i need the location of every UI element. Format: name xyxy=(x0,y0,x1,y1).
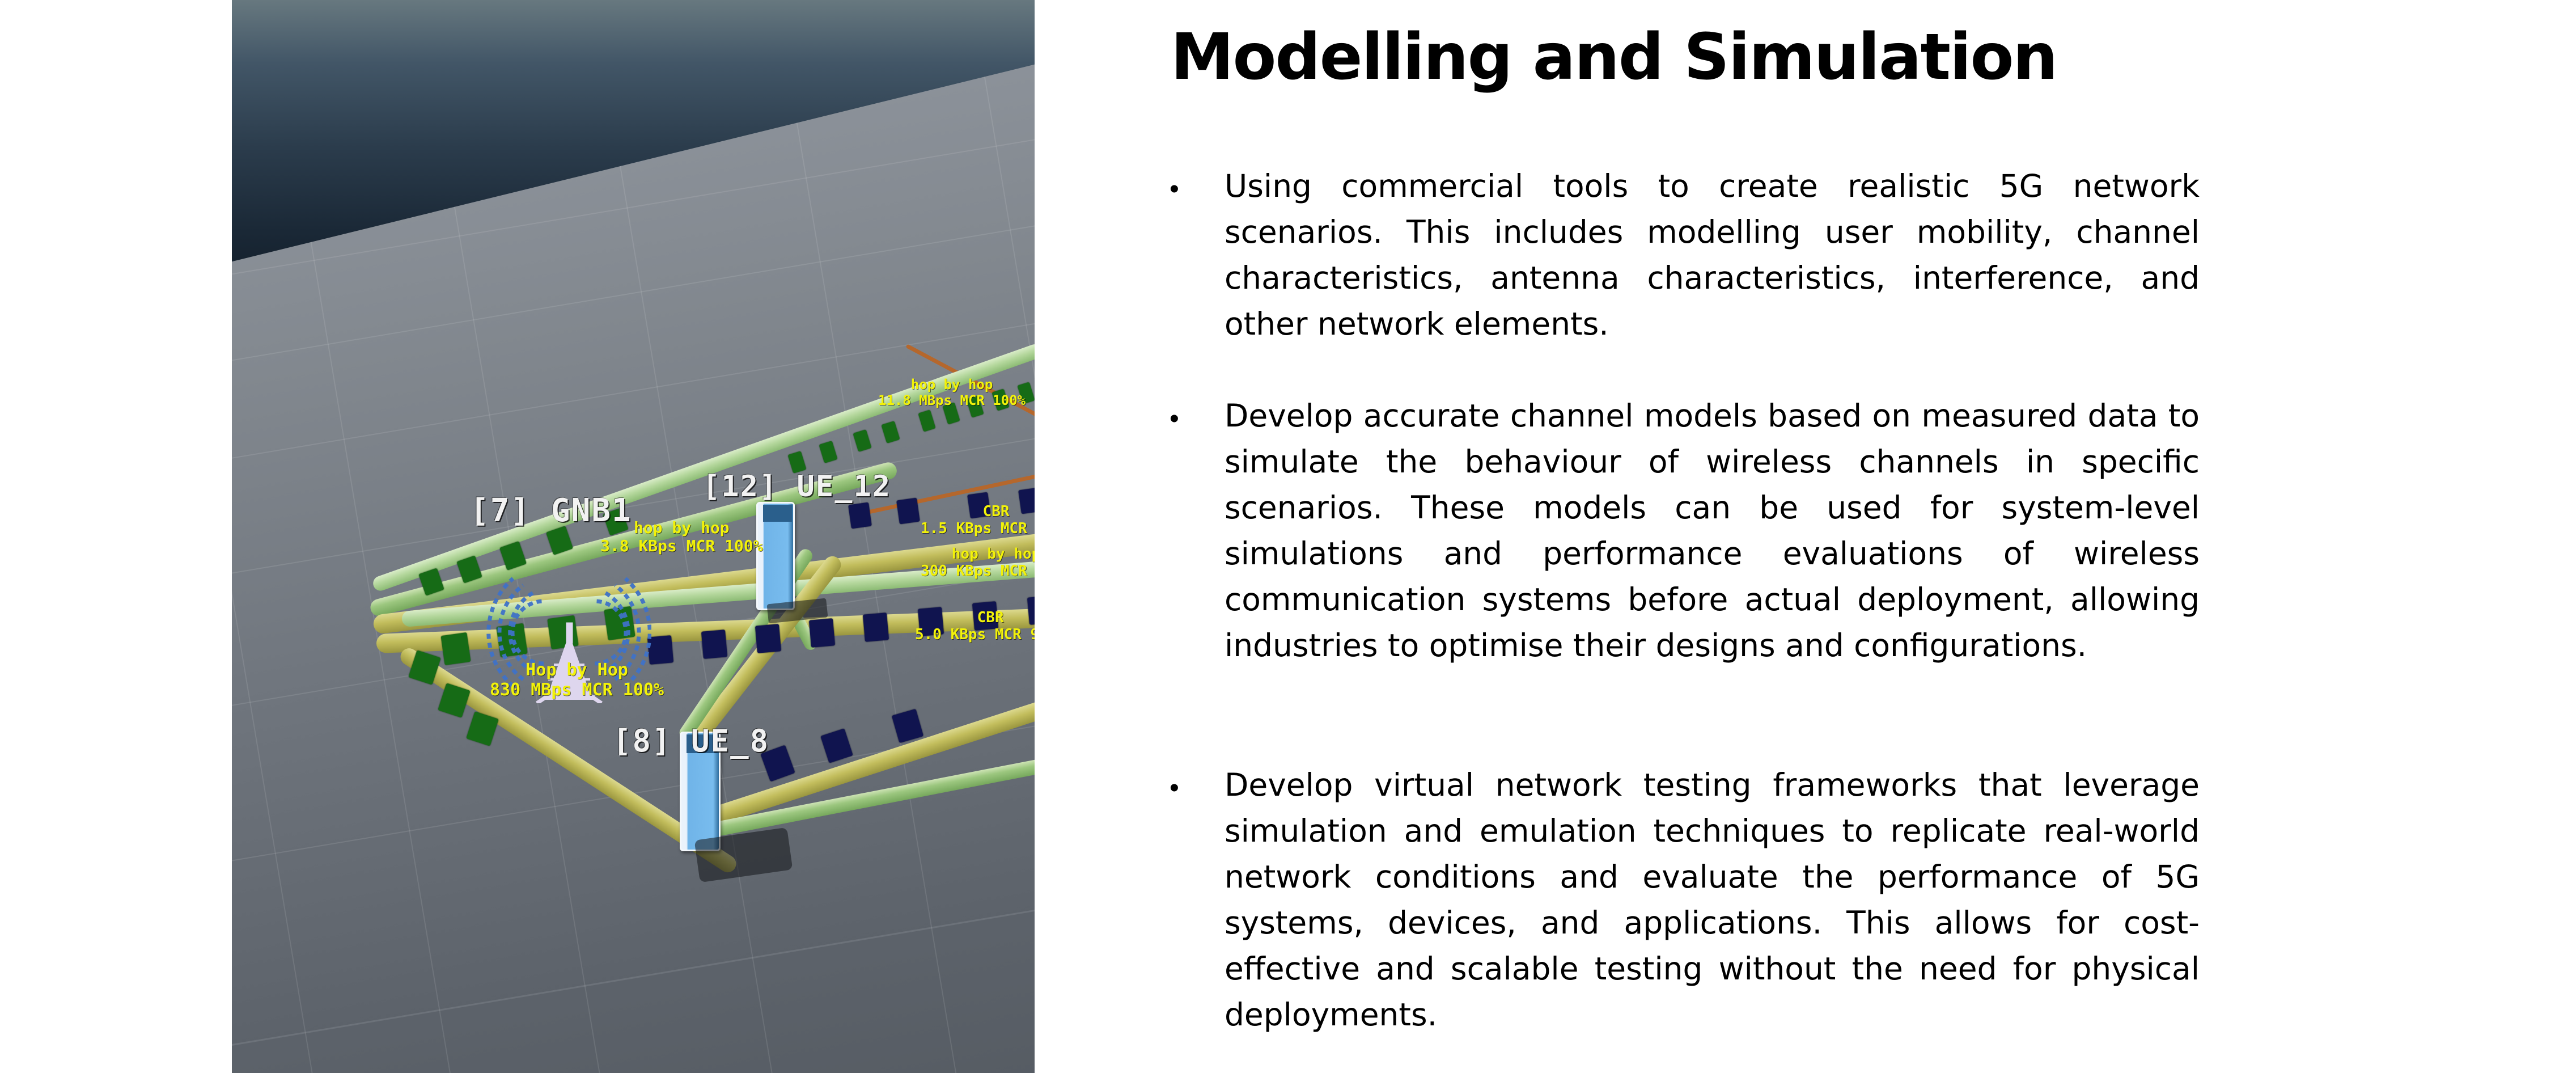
packet xyxy=(809,618,835,647)
flow-label: CBR 1.5 KBps MCR 100% xyxy=(921,504,1035,538)
flow-traffic-type: hop by hop xyxy=(952,546,1035,563)
bullet-marker: • xyxy=(1159,163,1225,347)
flow-rate: 830 MBps MCR 100% xyxy=(490,681,664,700)
bullet-marker: • xyxy=(1159,762,1225,1038)
bullet-marker: • xyxy=(1159,393,1225,669)
bullet-text: Develop accurate channel models based on… xyxy=(1225,393,2200,669)
flow-rate: 11.8 MBps MCR 100% xyxy=(878,393,1026,409)
flow-label: CBR 5.0 KBps MCR 900% xyxy=(915,610,1035,644)
flow-rate: 5.0 KBps MCR 900% xyxy=(915,627,1035,644)
flow-traffic-type: hop by hop xyxy=(911,377,993,392)
bullet-item: • Develop virtual network testing framew… xyxy=(1159,762,2200,1038)
packet xyxy=(755,624,781,653)
grid-line xyxy=(232,824,1035,1050)
flow-label: hop by hop 11.8 MBps MCR 100% xyxy=(878,377,1026,408)
slide-root: [7] GNB1 [12] UE_12 [8] UE_8 [2] AMF [9]… xyxy=(0,0,2576,1073)
flow-traffic-type: hop by hop xyxy=(634,518,730,537)
flow-rate: 3.8 KBps MCR 100% xyxy=(600,537,763,555)
grid-line xyxy=(232,215,357,1073)
flow-traffic-type: Hop by Hop xyxy=(526,660,628,680)
packet xyxy=(863,612,889,641)
flow-label: hop by hop 300 KBps MCR 100% xyxy=(921,546,1035,580)
flow-traffic-type: CBR xyxy=(977,609,1004,626)
bullet-text: Using commercial tools to create realist… xyxy=(1225,163,2200,347)
flow-traffic-type: CBR xyxy=(983,503,1010,520)
packet xyxy=(848,502,871,529)
packet xyxy=(701,630,727,658)
node-label-ue12: [12] UE_12 xyxy=(702,470,891,504)
flow-rate: 300 KBps MCR 100% xyxy=(921,563,1035,580)
flow-label: hop by hop 3.8 KBps MCR 100% xyxy=(600,519,763,555)
bullet-text: Develop virtual network testing framewor… xyxy=(1225,762,2200,1038)
network-simulation-screenshot: [7] GNB1 [12] UE_12 [8] UE_8 [2] AMF [9]… xyxy=(232,0,1035,1073)
node-label-ue8: [8] UE_8 xyxy=(613,723,769,759)
slide-text-column: Modelling and Simulation • Using commerc… xyxy=(1159,0,2560,1073)
packet xyxy=(441,632,471,665)
packet xyxy=(896,498,920,525)
flow-label: Hop by Hop 830 MBps MCR 100% xyxy=(490,661,664,700)
page-title: Modelling and Simulation xyxy=(1171,26,2531,89)
grid-line xyxy=(232,254,1035,479)
bullet-item: • Develop accurate channel models based … xyxy=(1159,393,2200,669)
bullet-item: • Using commercial tools to create reali… xyxy=(1159,163,2200,347)
flow-rate: 1.5 KBps MCR 100% xyxy=(921,521,1035,538)
smartphone-icon xyxy=(756,502,795,610)
